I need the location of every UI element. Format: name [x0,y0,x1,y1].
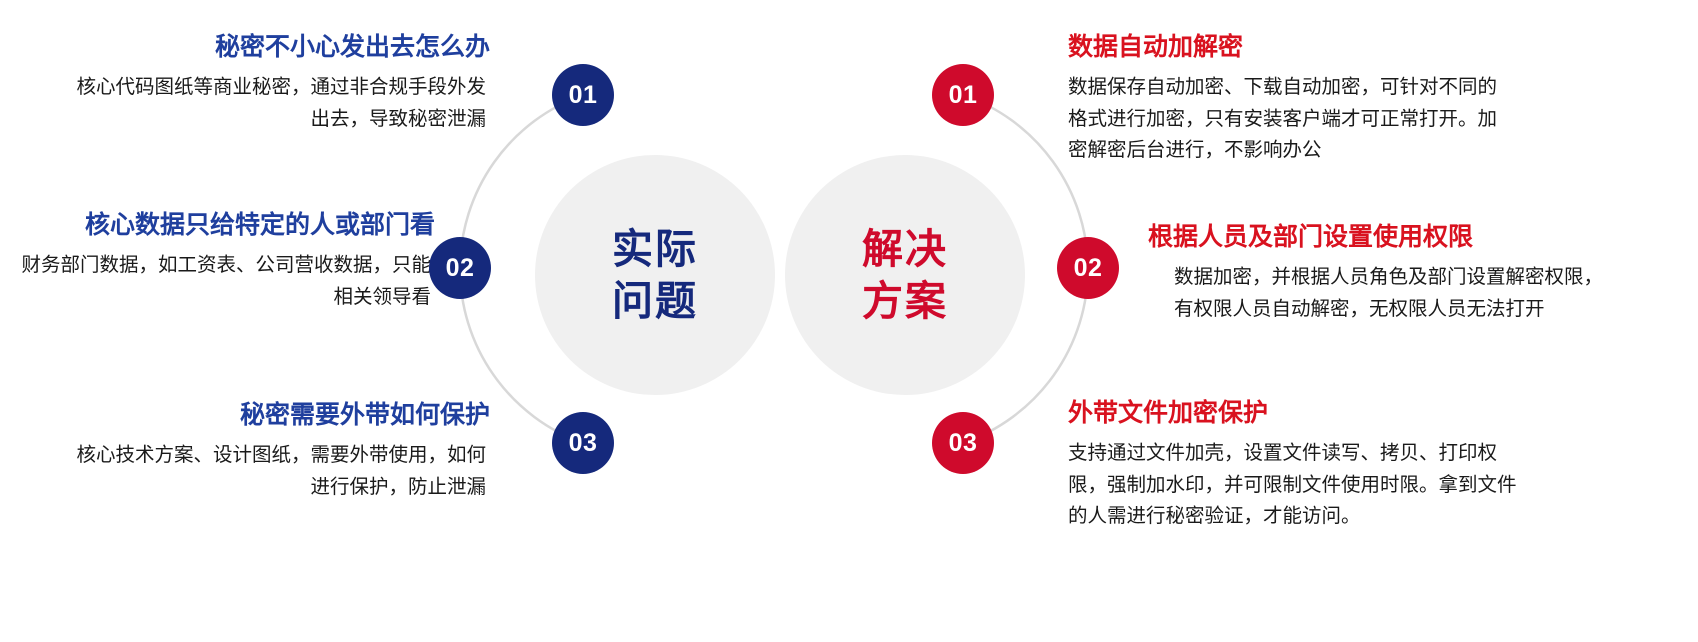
solution-item-02: 根据人员及部门设置使用权限 数据加密，并根据人员角色及部门设置解密权限，有权限人… [1148,222,1618,325]
badge-solution-01[interactable]: 01 [932,64,994,126]
badge-solution-02[interactable]: 02 [1057,237,1119,299]
problem-title-03: 秘密需要外带如何保护 [60,400,490,430]
hub-label-problems: 实际问题 [612,223,698,328]
problem-item-01: 秘密不小心发出去怎么办 核心代码图纸等商业秘密，通过非合规手段外发出去，导致秘密… [60,32,490,135]
badge-problem-03[interactable]: 03 [552,412,614,474]
hub-label-solutions: 解决方案 [862,223,948,328]
solution-body-03: 支持通过文件加壳，设置文件读写、拷贝、打印权限，强制加水印，并可限制文件使用时限… [1068,438,1518,533]
problem-body-01: 核心代码图纸等商业秘密，通过非合规手段外发出去，导致秘密泄漏 [60,72,490,135]
solution-title-01: 数据自动加解密 [1068,32,1498,62]
problem-title-01: 秘密不小心发出去怎么办 [60,32,490,62]
badge-solution-03[interactable]: 03 [932,412,994,474]
problem-title-02: 核心数据只给特定的人或部门看 [10,210,435,240]
problem-item-03: 秘密需要外带如何保护 核心技术方案、设计图纸，需要外带使用，如何进行保护，防止泄… [60,400,490,503]
problem-body-02: 财务部门数据，如工资表、公司营收数据，只能相关领导看 [10,250,435,313]
hub-circle-problems: 实际问题 [535,155,775,395]
solution-item-01: 数据自动加解密 数据保存自动加密、下载自动加密，可针对不同的格式进行加密，只有安… [1068,32,1498,167]
infographic-canvas: 实际问题 解决方案 01 02 03 01 02 03 秘密不小心发出去怎么办 … [0,0,1698,642]
hub-circle-solutions: 解决方案 [785,155,1025,395]
badge-problem-02[interactable]: 02 [429,237,491,299]
solution-item-03: 外带文件加密保护 支持通过文件加壳，设置文件读写、拷贝、打印权限，强制加水印，并… [1068,398,1518,533]
solution-title-02: 根据人员及部门设置使用权限 [1148,222,1618,252]
problem-item-02: 核心数据只给特定的人或部门看 财务部门数据，如工资表、公司营收数据，只能相关领导… [10,210,435,313]
problem-body-03: 核心技术方案、设计图纸，需要外带使用，如何进行保护，防止泄漏 [60,440,490,503]
solution-body-01: 数据保存自动加密、下载自动加密，可针对不同的格式进行加密，只有安装客户端才可正常… [1068,72,1498,167]
solution-title-03: 外带文件加密保护 [1068,398,1518,428]
solution-body-02: 数据加密，并根据人员角色及部门设置解密权限，有权限人员自动解密，无权限人员无法打… [1148,262,1618,325]
badge-problem-01[interactable]: 01 [552,64,614,126]
